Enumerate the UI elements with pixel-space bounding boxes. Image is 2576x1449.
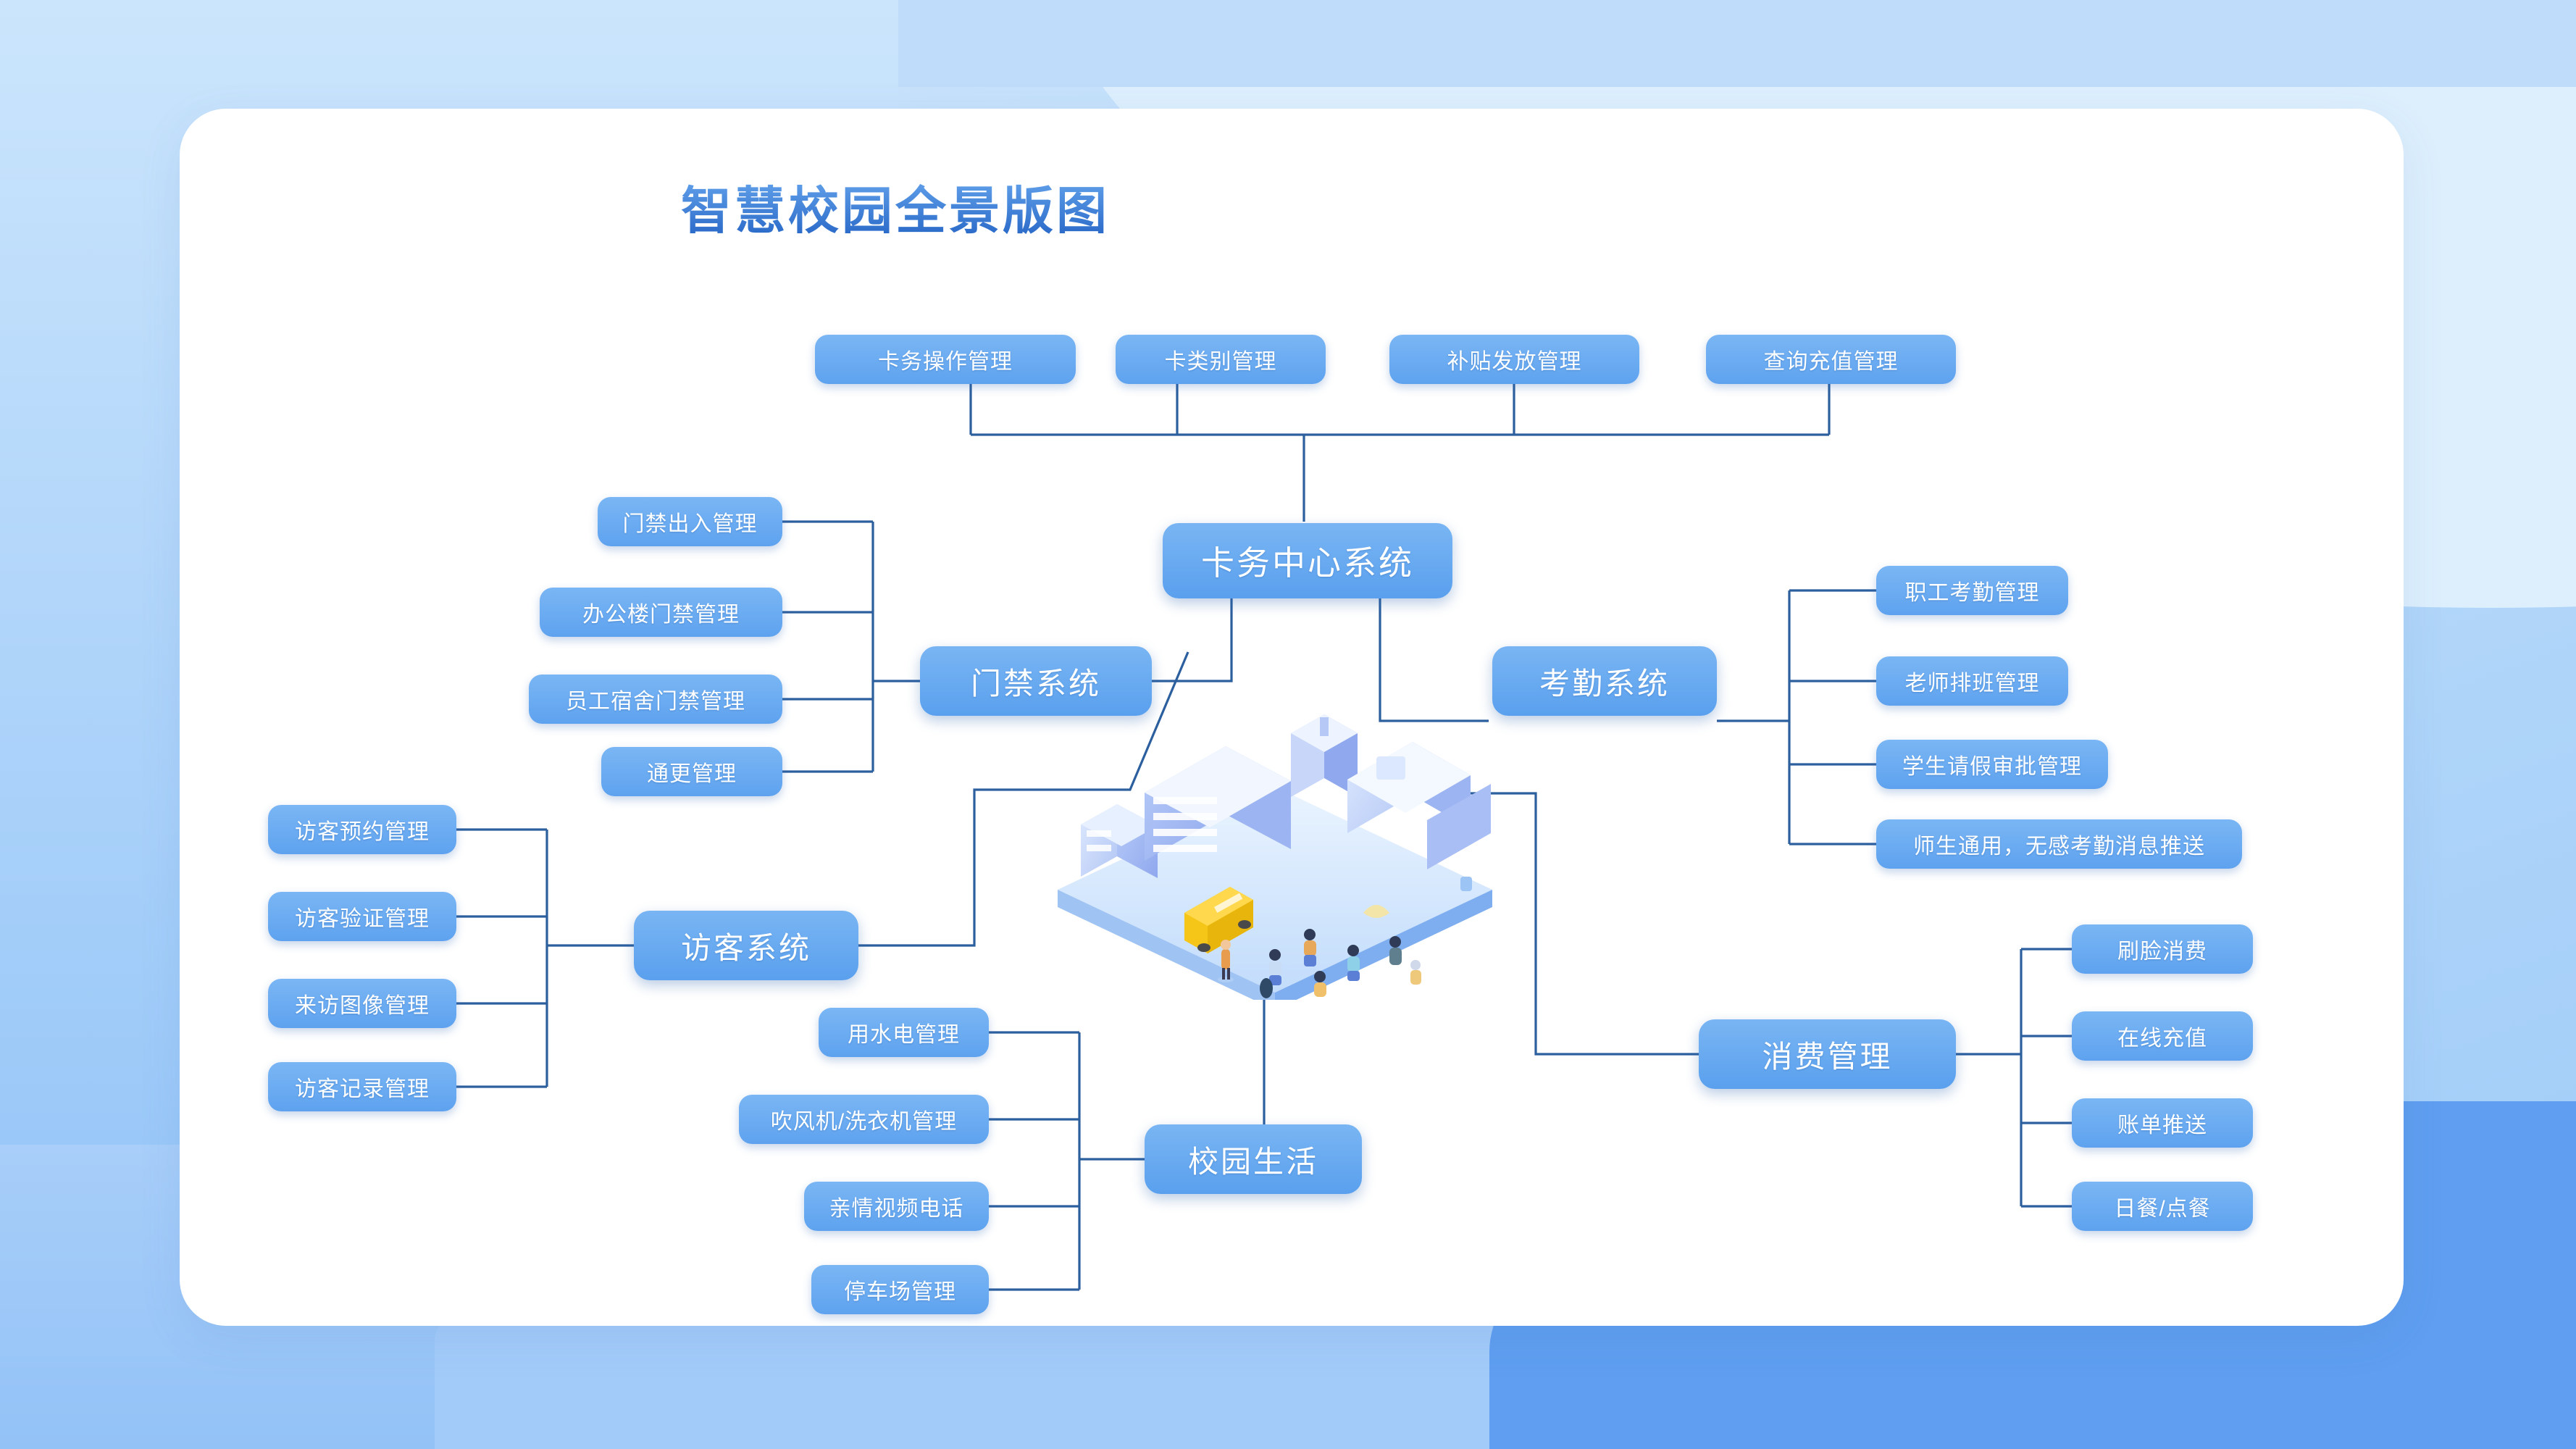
- node-access-channel[interactable]: 通更管理: [601, 747, 782, 796]
- node-top-card-operation[interactable]: 卡务操作管理: [815, 335, 1076, 384]
- tower-clock: [1320, 717, 1329, 736]
- node-consumption-face-payment[interactable]: 刷脸消费: [2072, 924, 2253, 974]
- node-top-card-category[interactable]: 卡类别管理: [1116, 335, 1326, 384]
- node-attendance-teacher-shift[interactable]: 老师排班管理: [1876, 656, 2068, 706]
- node-consumption-bill-push[interactable]: 账单推送: [2072, 1098, 2253, 1148]
- node-visitor-appointment[interactable]: 访客预约管理: [268, 805, 456, 854]
- node-visitor-image[interactable]: 来访图像管理: [268, 979, 456, 1028]
- shrub: [1260, 978, 1273, 998]
- node-visitor-verification[interactable]: 访客验证管理: [268, 892, 456, 941]
- node-life-parking[interactable]: 停车场管理: [811, 1265, 989, 1314]
- isometric-campus-illustration: [1036, 696, 1514, 1000]
- building-left-window: [1087, 830, 1111, 837]
- node-root-card-center-system[interactable]: 卡务中心系统: [1163, 523, 1452, 598]
- node-top-recharge-query[interactable]: 查询充值管理: [1706, 335, 1956, 384]
- node-access-staff-dorm[interactable]: 员工宿舍门禁管理: [529, 675, 782, 724]
- node-access-entry-exit[interactable]: 门禁出入管理: [598, 497, 782, 546]
- node-consumption-online-recharge[interactable]: 在线充值: [2072, 1011, 2253, 1061]
- node-life-water-electricity[interactable]: 用水电管理: [819, 1008, 989, 1057]
- background-band-top: [855, 0, 2576, 87]
- node-top-subsidy[interactable]: 补贴发放管理: [1389, 335, 1639, 384]
- node-consumption-meal-order[interactable]: 日餐/点餐: [2072, 1182, 2253, 1231]
- node-attendance-student-leave[interactable]: 学生请假审批管理: [1876, 740, 2108, 789]
- node-life-video-call[interactable]: 亲情视频电话: [804, 1182, 989, 1231]
- node-attendance-staff[interactable]: 职工考勤管理: [1876, 566, 2068, 615]
- node-hub-campus-life[interactable]: 校园生活: [1145, 1124, 1362, 1194]
- building-right-window: [1376, 756, 1405, 780]
- node-access-office-building[interactable]: 办公楼门禁管理: [540, 588, 782, 637]
- node-life-dryer-washer[interactable]: 吹风机/洗衣机管理: [739, 1095, 989, 1144]
- node-hub-access-control[interactable]: 门禁系统: [920, 646, 1152, 716]
- diagram-canvas: 智慧校园全景版图: [0, 0, 2576, 1449]
- building-left-window: [1087, 845, 1111, 851]
- node-attendance-push-message[interactable]: 师生通用，无感考勤消息推送: [1876, 819, 2242, 869]
- node-hub-consumption-management[interactable]: 消费管理: [1699, 1019, 1956, 1089]
- node-hub-visitor-system[interactable]: 访客系统: [634, 911, 858, 980]
- node-hub-attendance-system[interactable]: 考勤系统: [1492, 646, 1717, 716]
- page-title: 智慧校园全景版图: [681, 170, 1110, 243]
- node-visitor-record[interactable]: 访客记录管理: [268, 1062, 456, 1111]
- signpost: [1460, 877, 1472, 891]
